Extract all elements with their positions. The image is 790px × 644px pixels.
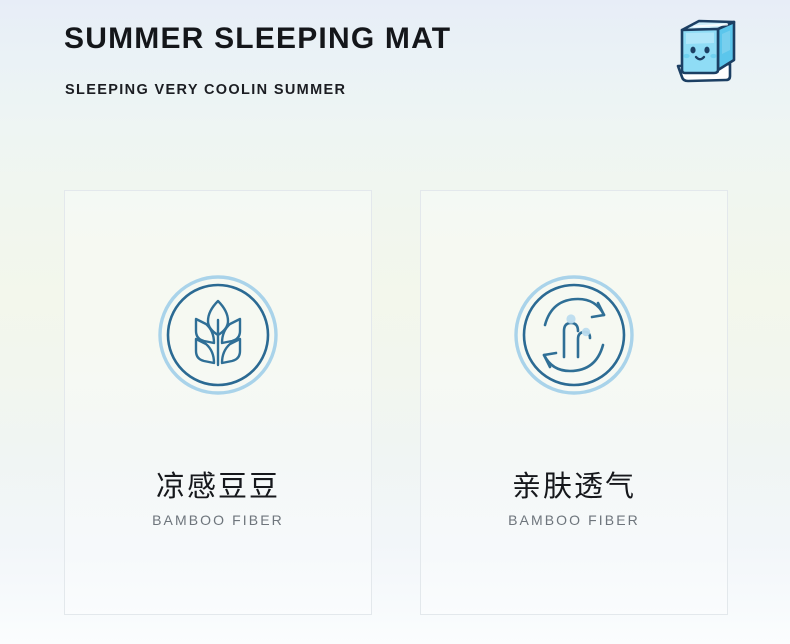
page-subtitle: SLEEPING VERY COOLIN SUMMER (65, 82, 346, 98)
ice-cube-icon (672, 14, 742, 86)
feature-card[interactable]: 凉感豆豆 BAMBOO FIBER (64, 190, 372, 615)
card-title: 凉感豆豆 (65, 463, 371, 505)
card-subtitle: BAMBOO FIBER (421, 512, 727, 528)
page-header: SUMMER SLEEPING MAT SLEEPING VERY COOLIN… (0, 0, 790, 130)
feature-card-list: 凉感豆豆 BAMBOO FIBER (0, 190, 790, 616)
bamboo-leaf-icon (156, 273, 280, 397)
page-title: SUMMER SLEEPING MAT (64, 22, 451, 56)
feature-card[interactable]: 亲肤透气 BAMBOO FIBER (420, 190, 728, 615)
card-title: 亲肤透气 (421, 463, 727, 505)
card-subtitle: BAMBOO FIBER (65, 512, 371, 528)
promo-page: SUMMER SLEEPING MAT SLEEPING VERY COOLIN… (0, 0, 790, 644)
breathable-airflow-icon (512, 273, 636, 397)
